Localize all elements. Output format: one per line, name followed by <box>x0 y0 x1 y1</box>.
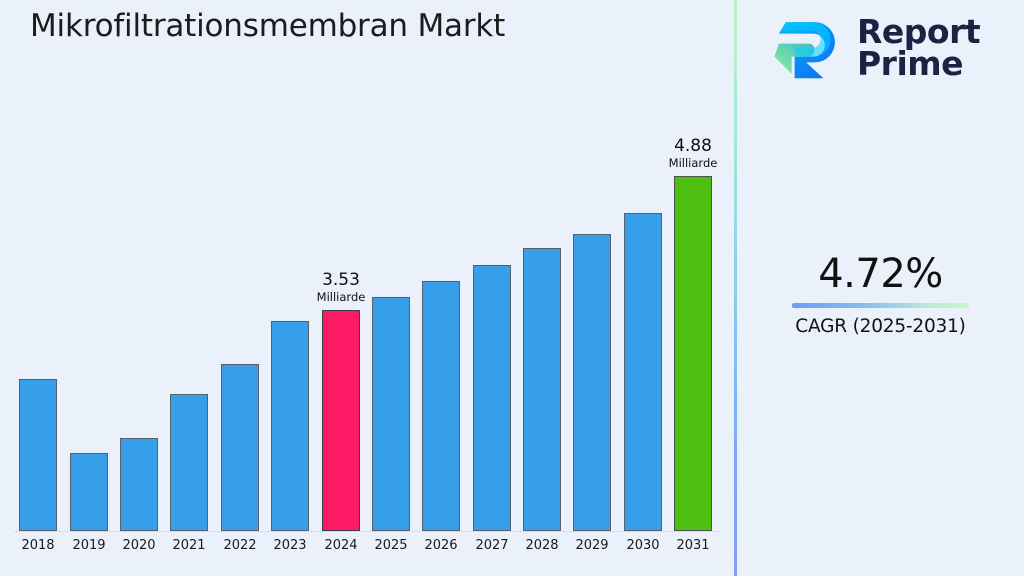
cagr-block: 4.72% CAGR (2025-2031) <box>737 253 1024 337</box>
brand-logo: Report Prime <box>773 12 980 84</box>
report-prime-logo-icon <box>773 12 845 84</box>
bar-rect-2026[interactable] <box>422 281 460 531</box>
cagr-value: 4.72% <box>737 253 1024 295</box>
brand-name: Report Prime <box>857 16 980 81</box>
bar-value-2031: 4.88 <box>648 137 738 155</box>
page-title: Mikrofiltrationsmembran Markt <box>30 8 505 44</box>
x-axis-line <box>14 531 720 532</box>
bar-unit-2031: Milliarde <box>648 157 738 169</box>
bar-rect-2031[interactable] <box>674 176 712 531</box>
bar-chart-plot-area: 3.53Milliarde4.88Milliarde <box>0 120 735 532</box>
bar-value-2024: 3.53 <box>296 271 386 289</box>
chart-page: Mikrofiltrationsmembran Markt 3.53Millia… <box>0 0 1024 576</box>
cagr-divider-rule <box>792 303 969 308</box>
brand-name-line2: Prime <box>857 48 980 80</box>
chart-panel: Mikrofiltrationsmembran Markt 3.53Millia… <box>0 0 735 576</box>
bar-rect-2022[interactable] <box>221 364 259 531</box>
cagr-caption: CAGR (2025-2031) <box>737 316 1024 337</box>
bar-value-label-2031: 4.88Milliarde <box>648 137 738 169</box>
x-axis-tick-2031: 2031 <box>663 538 723 553</box>
bar-rect-2030[interactable] <box>624 213 662 531</box>
bar-rect-2027[interactable] <box>473 265 511 531</box>
bar-rect-2029[interactable] <box>573 234 611 531</box>
bar-rect-2018[interactable] <box>19 379 57 531</box>
bar-rect-2028[interactable] <box>523 248 561 531</box>
bar-rect-2023[interactable] <box>271 321 309 531</box>
bar-rect-2020[interactable] <box>120 438 158 531</box>
bar-rect-2021[interactable] <box>170 394 208 531</box>
bar-rect-2019[interactable] <box>70 453 108 531</box>
brand-panel: Report Prime 4.72% CAGR (2025-2031) <box>737 0 1024 576</box>
bar-rect-2025[interactable] <box>372 297 410 531</box>
bar-rect-2024[interactable] <box>322 310 360 531</box>
